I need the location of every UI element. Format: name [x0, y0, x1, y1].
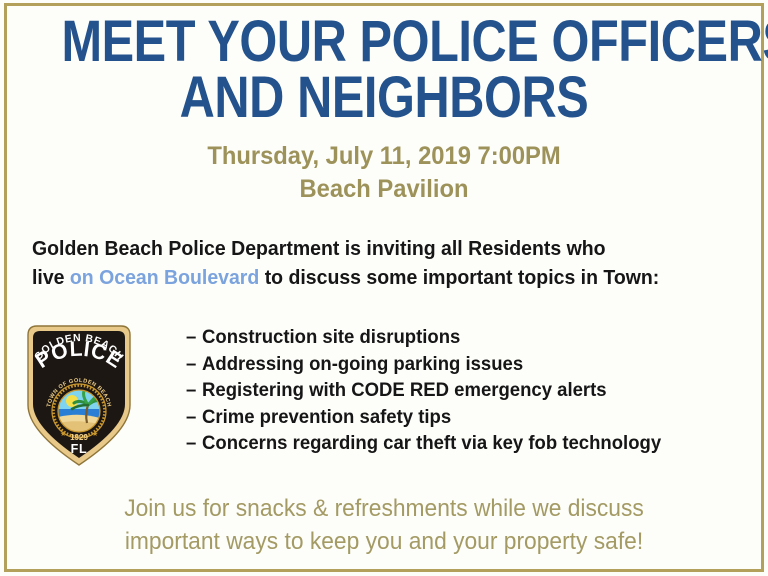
topic-label: Addressing on-going parking issues: [202, 353, 523, 375]
title-line-2: AND NEIGHBORS: [61, 70, 706, 126]
list-item: –Concerns regarding car theft via key fo…: [186, 430, 718, 457]
dash-bullet-icon: –: [186, 432, 196, 454]
dash-bullet-icon: –: [186, 353, 196, 375]
badge-state-text: FL: [71, 442, 88, 456]
list-item: –Addressing on-going parking issues: [186, 351, 718, 378]
closing-line-2: important ways to keep you and your prop…: [19, 525, 749, 558]
topics-list: –Construction site disruptions –Addressi…: [186, 324, 746, 457]
poster-canvas: MEET YOUR POLICE OFFICERS AND NEIGHBORS …: [0, 0, 768, 576]
seal-year-text: 1929: [70, 433, 88, 442]
invitation-line-2-suffix: to discuss some important topics in Town…: [259, 266, 659, 289]
topic-label: Registering with CODE RED emergency aler…: [202, 379, 607, 401]
invitation-paragraph: Golden Beach Police Department is inviti…: [32, 234, 742, 292]
list-item: –Construction site disruptions: [186, 324, 718, 351]
dash-bullet-icon: –: [186, 326, 196, 348]
event-datetime: Thursday, July 11, 2019 7:00PM: [19, 140, 749, 173]
seal-star-left-icon: ★: [60, 430, 66, 438]
topic-label: Crime prevention safety tips: [202, 406, 451, 428]
seal-star-right-icon: ★: [92, 430, 98, 438]
invitation-line-2-prefix: live: [32, 266, 70, 289]
topic-label: Construction site disruptions: [202, 326, 460, 348]
closing-line-1: Join us for snacks & refreshments while …: [19, 492, 749, 525]
invitation-line-2: live on Ocean Boulevard to discuss some …: [32, 263, 707, 292]
list-item: –Registering with CODE RED emergency ale…: [186, 377, 718, 404]
event-details: Thursday, July 11, 2019 7:00PM Beach Pav…: [0, 140, 768, 206]
title-line-1: MEET YOUR POLICE OFFICERS: [61, 14, 706, 70]
golden-beach-police-badge-icon: GOLDEN BEACH POLICE TOWN OF GOLDEN BEACH: [20, 319, 138, 471]
topic-label: Concerns regarding car theft via key fob…: [202, 432, 661, 454]
event-venue: Beach Pavilion: [19, 173, 749, 206]
dash-bullet-icon: –: [186, 406, 196, 428]
invitation-line-1: Golden Beach Police Department is inviti…: [32, 234, 707, 263]
ocean-boulevard-highlight: on Ocean Boulevard: [70, 266, 259, 289]
page-title: MEET YOUR POLICE OFFICERS AND NEIGHBORS: [0, 14, 768, 126]
list-item: –Crime prevention safety tips: [186, 404, 718, 431]
closing-message: Join us for snacks & refreshments while …: [0, 492, 768, 558]
dash-bullet-icon: –: [186, 379, 196, 401]
